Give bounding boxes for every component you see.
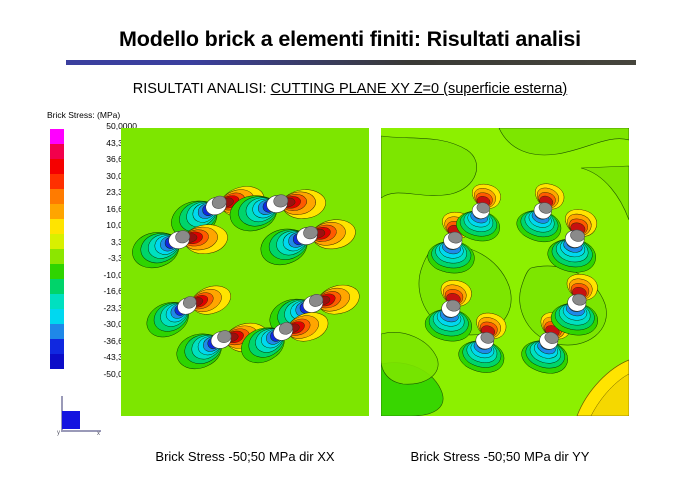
contour-plot-xx-canvas <box>121 128 369 416</box>
subtitle: RISULTATI ANALISI: CUTTING PLANE XY Z=0 … <box>0 81 700 97</box>
colorbar-band-4 <box>50 189 64 204</box>
colorbar-band-14 <box>50 339 64 354</box>
colorbar-band-9 <box>50 264 64 279</box>
colorbar-band-2 <box>50 159 64 174</box>
colorbar-band-7 <box>50 234 64 249</box>
plot-xx-background <box>121 128 369 416</box>
colorbar-gradient <box>50 129 64 369</box>
axis-triad: x y <box>57 396 107 440</box>
subtitle-emphasis: CUTTING PLANE XY Z=0 (superficie esterna… <box>271 81 568 97</box>
colorbar-band-1 <box>50 144 64 159</box>
colorbar-band-5 <box>50 204 64 219</box>
axis-origin-marker <box>62 411 80 429</box>
colorbar-band-10 <box>50 279 64 294</box>
colorbar-band-12 <box>50 309 64 324</box>
colorbar-band-8 <box>50 249 64 264</box>
contour-plot-yy-canvas <box>381 128 629 416</box>
subtitle-prefix: RISULTATI ANALISI: <box>133 81 271 97</box>
caption-plot-xx: Brick Stress -50;50 MPa dir XX <box>115 449 375 464</box>
caption-plot-yy: Brick Stress -50;50 MPa dir YY <box>370 449 630 464</box>
title-underline-rule <box>66 60 636 65</box>
axis-x-line <box>61 430 101 432</box>
colorbar-band-3 <box>50 174 64 189</box>
colorbar-band-13 <box>50 324 64 339</box>
colorbar-title: Brick Stress: (MPa) <box>47 110 120 120</box>
contour-plot-xx <box>121 128 369 416</box>
contour-plot-yy <box>381 128 629 416</box>
colorbar-band-0 <box>50 129 64 144</box>
axis-y-label: y <box>57 430 60 436</box>
colorbar-band-6 <box>50 219 64 234</box>
axis-x-label: x <box>97 431 100 437</box>
colorbar-band-11 <box>50 294 64 309</box>
page-title: Modello brick a elementi finiti: Risulta… <box>0 27 700 52</box>
colorbar-band-15 <box>50 354 64 369</box>
